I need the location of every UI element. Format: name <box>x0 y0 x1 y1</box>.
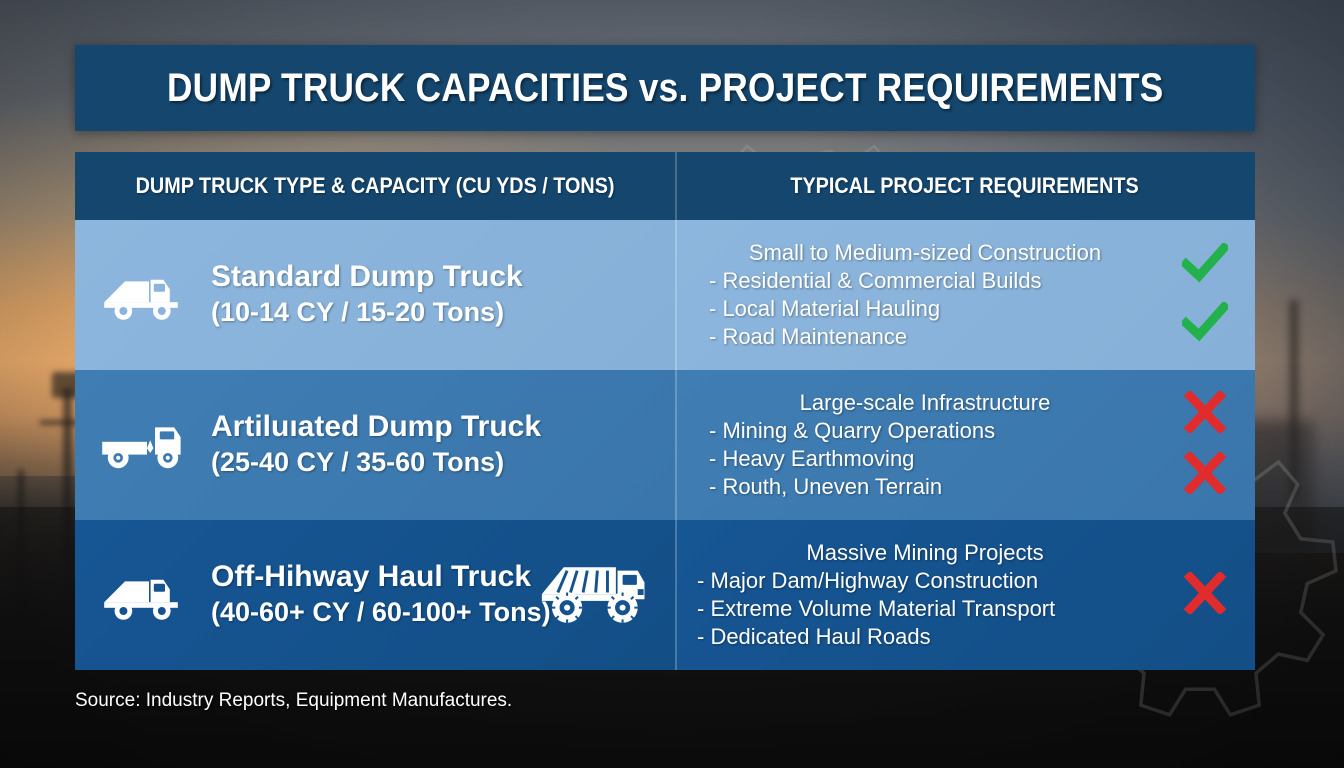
dump-truck-icon <box>97 567 193 623</box>
row-3-requirement-item: - Extreme Volume Material Transport <box>691 595 1169 623</box>
row-2-requirement-item: - Mining & Quarry Operations <box>691 417 1169 445</box>
cross-icon <box>1183 391 1227 438</box>
row-3-requirements-cell: Massive Mining Projects - Major Dam/High… <box>675 520 1255 670</box>
cross-icon <box>1183 572 1227 619</box>
column-header-truck-type-label: DUMP TRUCK TYPE & CAPACITY (CU YDS / TON… <box>136 173 615 199</box>
row-1-requirement-item: - Residential & Commercial Builds <box>691 267 1169 295</box>
row-1-requirement-item: - Local Material Hauling <box>691 295 1169 323</box>
row-2-requirements-cell: Large-scale Infrastructure - Mining & Qu… <box>675 370 1255 520</box>
row-2-truck-cell: Artiluıated Dump Truck (25-40 CY / 35-60… <box>75 370 675 520</box>
row-3-truck-cell: Off-Hihway Haul Truck (40-60+ CY / 60-10… <box>75 520 675 670</box>
articulated-truck-icon <box>97 416 193 474</box>
row-1-truck-name: Standard Dump Truck <box>211 260 523 294</box>
row-1-requirement-item: - Road Maintenance <box>691 323 1169 351</box>
column-divider <box>675 520 677 670</box>
column-header-requirements-label: TYPICAL PROJECT REQUIREMENTS <box>791 173 1139 199</box>
mining-haul-truck-icon <box>535 556 653 635</box>
cross-icon <box>1183 452 1227 499</box>
row-2-requirement-item: - Heavy Earthmoving <box>691 445 1169 473</box>
row-3-truck-name: Off-Hihway Haul Truck <box>211 560 551 594</box>
column-header-requirements: TYPICAL PROJECT REQUIREMENTS <box>675 152 1255 220</box>
source-note: Source: Industry Reports, Equipment Manu… <box>75 690 512 712</box>
comparison-table: DUMP TRUCK TYPE & CAPACITY (CU YDS / TON… <box>75 152 1255 670</box>
column-divider <box>675 370 677 520</box>
column-divider <box>675 220 677 370</box>
row-2-truck-capacity: (25-40 CY / 35-60 Tons) <box>211 446 541 480</box>
table-row: Off-Hihway Haul Truck (40-60+ CY / 60-10… <box>75 520 1255 670</box>
row-3-status-marks <box>1169 520 1241 670</box>
row-2-requirement-item: - Routh, Uneven Terrain <box>691 473 1169 501</box>
column-divider <box>675 152 677 220</box>
row-1-truck-cell: Standard Dump Truck (10-14 CY / 15-20 To… <box>75 220 675 370</box>
table-header-row: DUMP TRUCK TYPE & CAPACITY (CU YDS / TON… <box>75 152 1255 220</box>
infographic-card: DUMP TRUCK CAPACITIES vs. PROJECT REQUIR… <box>75 45 1255 670</box>
dump-truck-icon <box>97 267 193 323</box>
row-1-requirements-heading: Small to Medium-sized Construction <box>691 239 1169 267</box>
check-icon <box>1182 243 1228 288</box>
row-3-requirement-item: - Major Dam/Highway Construction <box>691 567 1169 595</box>
row-1-status-marks <box>1169 220 1241 370</box>
row-2-truck-name: Artiluıated Dump Truck <box>211 410 541 444</box>
title-bar: DUMP TRUCK CAPACITIES vs. PROJECT REQUIR… <box>75 45 1255 131</box>
row-3-requirements-heading: Massive Mining Projects <box>691 539 1169 567</box>
row-3-truck-capacity: (40-60+ CY / 60-100+ Tons) <box>211 596 551 630</box>
column-header-truck-type: DUMP TRUCK TYPE & CAPACITY (CU YDS / TON… <box>75 152 675 220</box>
row-1-requirements-cell: Small to Medium-sized Construction - Res… <box>675 220 1255 370</box>
check-icon <box>1182 302 1228 347</box>
table-row: Artiluıated Dump Truck (25-40 CY / 35-60… <box>75 370 1255 520</box>
table-row: Standard Dump Truck (10-14 CY / 15-20 To… <box>75 220 1255 370</box>
row-2-requirements-heading: Large-scale Infrastructure <box>691 389 1169 417</box>
page-title: DUMP TRUCK CAPACITIES vs. PROJECT REQUIR… <box>167 66 1164 111</box>
row-3-requirement-item: - Dedicated Haul Roads <box>691 623 1169 651</box>
row-2-status-marks <box>1169 370 1241 520</box>
row-1-truck-capacity: (10-14 CY / 15-20 Tons) <box>211 296 523 330</box>
